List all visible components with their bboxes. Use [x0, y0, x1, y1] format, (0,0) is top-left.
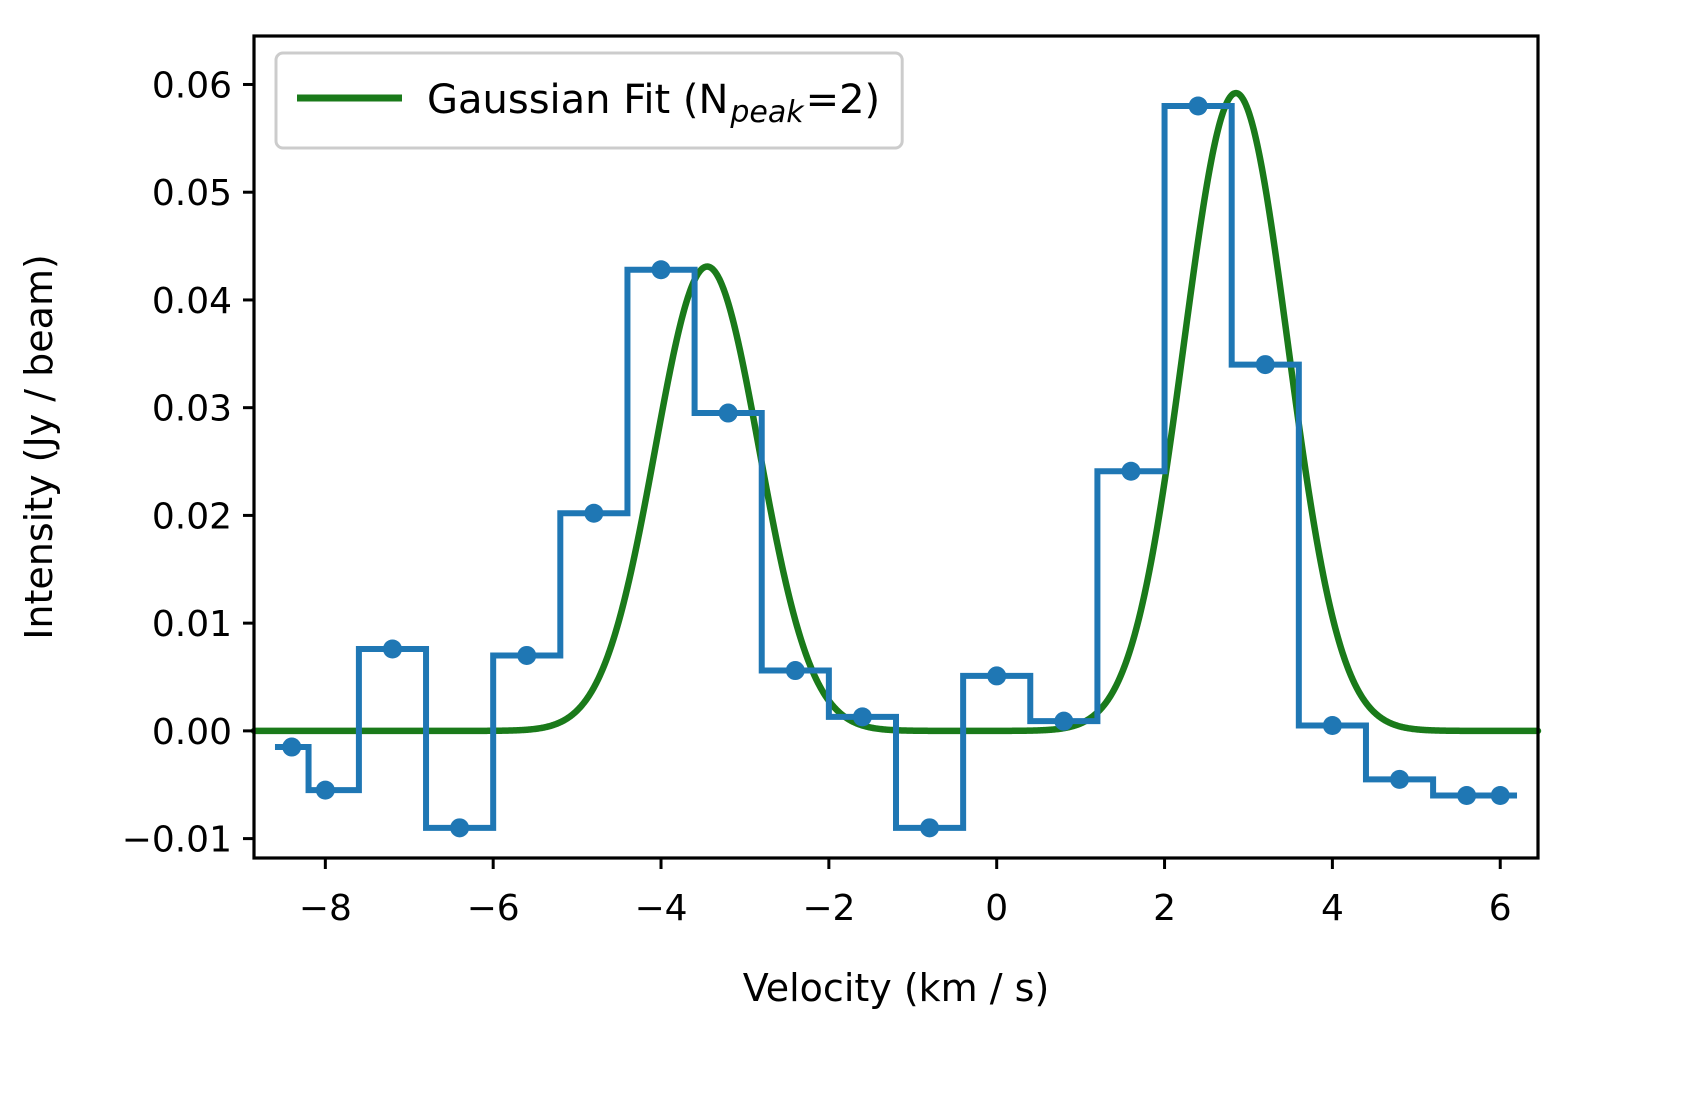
spectrum-data-point [450, 818, 469, 837]
x-tick-label: 2 [1153, 888, 1176, 929]
spectrum-data-point [584, 504, 603, 523]
chart-canvas: −8−6−4−20246 −0.010.000.010.020.030.040.… [0, 0, 1705, 1111]
spectrum-data-point [987, 666, 1006, 685]
y-tick-label: 0.01 [152, 604, 232, 645]
gaussian-fit-spectrum-figure: −8−6−4−20246 −0.010.000.010.020.030.040.… [0, 0, 1705, 1111]
spectrum-data-point [316, 781, 335, 800]
spectrum-data-point [1256, 355, 1275, 374]
legend-label-tail: =2) [806, 77, 881, 123]
spectrum-data-point [517, 646, 536, 665]
spectrum-data-point [786, 661, 805, 680]
x-tick-label: −6 [467, 888, 520, 929]
spectrum-data-point [920, 818, 939, 837]
y-tick-label: 0.06 [152, 65, 232, 106]
spectrum-data-point [1121, 462, 1140, 481]
x-tick-label: −2 [802, 888, 855, 929]
spectrum-data-point [1189, 97, 1208, 116]
spectrum-data-point [652, 260, 671, 279]
spectrum-data-point [282, 738, 301, 757]
spectrum-data-point [719, 404, 738, 423]
spectrum-data-point [1390, 770, 1409, 789]
x-tick-label: 6 [1489, 888, 1512, 929]
y-tick-label: 0.03 [152, 389, 232, 430]
legend-label-subscript: peak [729, 95, 805, 130]
x-tick-label: −4 [634, 888, 687, 929]
y-tick-label: 0.04 [152, 281, 232, 322]
y-axis-label: Intensity (Jy / beam) [17, 254, 61, 640]
spectrum-data-point [1054, 712, 1073, 731]
x-tick-label: 4 [1321, 888, 1344, 929]
y-tick-label: 0.05 [152, 173, 232, 214]
spectrum-data-point [853, 707, 872, 726]
x-axis-label: Velocity (km / s) [743, 966, 1050, 1010]
x-tick-label: 0 [985, 888, 1008, 929]
y-tick-label: 0.00 [152, 712, 232, 753]
spectrum-data-point [383, 640, 402, 659]
spectrum-data-point [1323, 716, 1342, 735]
spectrum-data-point [1457, 786, 1476, 805]
y-tick-label: 0.02 [152, 496, 232, 537]
chart-legend[interactable]: Gaussian Fit (N peak =2) [276, 53, 902, 148]
legend-label-main: Gaussian Fit (N [427, 77, 728, 123]
y-tick-label: −0.01 [122, 820, 232, 861]
x-tick-label: −8 [299, 888, 352, 929]
spectrum-data-point [1491, 786, 1510, 805]
